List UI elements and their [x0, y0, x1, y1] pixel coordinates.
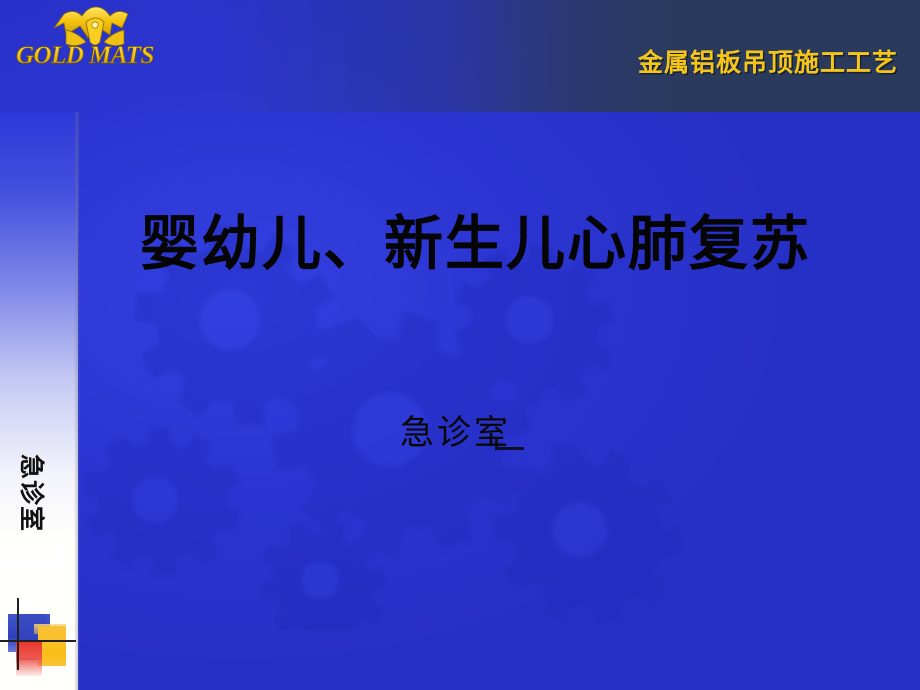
crown-wings-emblem-icon: [54, 7, 128, 46]
corner-decoration: [0, 596, 86, 690]
decoration-red-block: [16, 642, 42, 676]
sidebar-vertical-text-label: 急诊室: [15, 454, 51, 532]
decoration-horizontal-rule: [0, 640, 76, 642]
sidebar-vertical-text: 急诊室: [15, 443, 45, 543]
presentation-slide: 急诊室: [0, 0, 920, 690]
slide-title: 婴幼儿、新生儿心肺复苏: [140, 196, 811, 281]
header-title: 金属铝板吊顶施工工艺: [638, 43, 898, 79]
gold-mats-logo: GOLD MATS: [10, 4, 160, 74]
logo-wordmark: GOLD MATS: [16, 42, 154, 69]
decoration-yellow-block: [38, 626, 66, 666]
slide-subtitle: 急诊室: [400, 405, 511, 454]
decoration-vertical-rule: [17, 598, 19, 670]
